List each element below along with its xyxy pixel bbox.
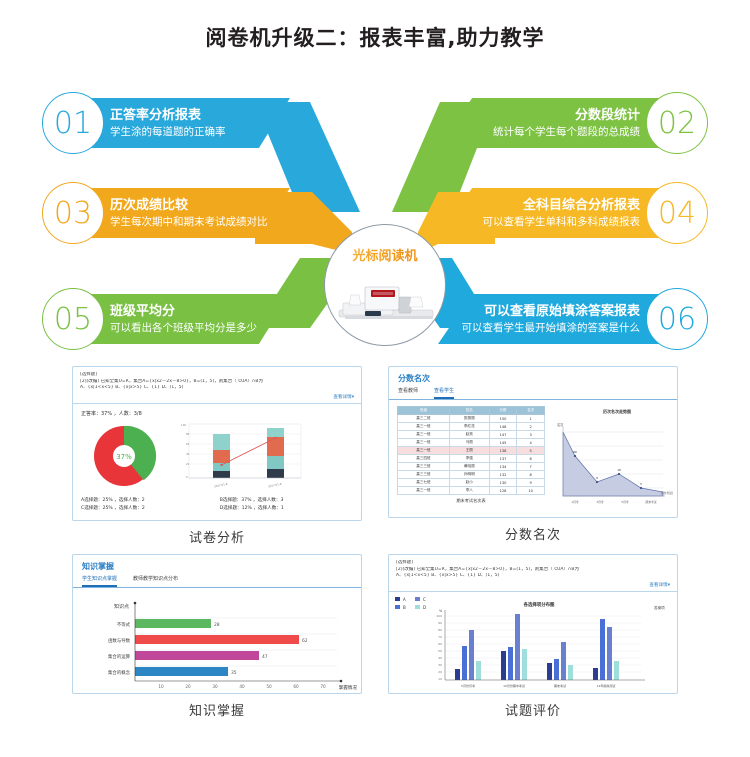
rank-table-row[interactable]: 高三七班赵小1309 xyxy=(398,479,545,487)
rank-cell-姓名: 孙明明 xyxy=(449,471,489,479)
svg-text:10: 10 xyxy=(438,677,442,681)
eval-unit-label: % xyxy=(439,609,443,613)
knowledge-ylabel: 知识点 xyxy=(114,603,129,610)
rank-table-caption: 期末考试名次表 xyxy=(397,498,545,504)
item-eval-bar-chart: A C B D 各选择项分布图 答案项 % xyxy=(389,592,677,690)
info-item-02-title: 分数段统计 xyxy=(438,108,640,124)
rank-cell-班级: 高三一班 xyxy=(398,439,450,447)
trend-xtick-1: 3月考 xyxy=(596,500,604,504)
stacked-bar-chart: 100 8060 4020 0 xyxy=(175,420,307,492)
card-knowledge: 知识掌握 学生知识点掌握 教师教学知识点分布 知识点 xyxy=(72,554,362,719)
rank-cell-名次: 6 xyxy=(517,455,545,463)
rank-table-row[interactable]: 高三二班张丽丽1501 xyxy=(398,415,545,423)
trend-xtick-2: 5月考 xyxy=(621,500,629,504)
correct-rate-text: 正答率：37% ，人数：3/8 xyxy=(81,410,353,417)
card-item-eval: [选择题] [2](改编) 已知全集U=R，集合A={x|x2－2x－8>0}，… xyxy=(388,554,678,719)
option-stat-d: D选择题：12% ，选择人数：1 xyxy=(220,505,353,513)
screenshot-paper-analysis[interactable]: [选择题] [2](改编) 已知全集U=R，集合A={x|x2－2x－8>0}，… xyxy=(72,366,362,521)
rank-table-row[interactable]: 高三三班孙明明1328 xyxy=(398,471,545,479)
rank-col-name: 姓名 xyxy=(449,407,489,415)
svg-text:0: 0 xyxy=(186,475,188,479)
rank-cell-姓名: 赵小 xyxy=(449,479,489,487)
question-line-2: A、{x|1<x<5} B、{x|x>5} C、{1} D、(1，5) xyxy=(80,385,354,392)
svg-text:20: 20 xyxy=(438,670,442,674)
rank-cell-班级: 高三四班 xyxy=(398,455,450,463)
xtick-40: 40 xyxy=(239,684,245,689)
svg-text:60: 60 xyxy=(438,642,442,646)
cat-set-operation: 集合的运算 xyxy=(108,653,131,660)
legend-d: D xyxy=(423,605,426,610)
view-detail-link[interactable]: 查看详情▾ xyxy=(80,394,354,400)
rank-cell-姓名: 李强 xyxy=(449,455,489,463)
poster-root: 阅卷机升级二：报表丰富,助力教学 光标阅读机 xyxy=(0,0,750,757)
rank-cell-姓名: 李八 xyxy=(449,487,489,495)
info-item-03-sub: 学生每次期中和期末考试成绩对比 xyxy=(110,215,290,229)
svg-text:100: 100 xyxy=(181,423,186,427)
svg-text:18: 18 xyxy=(617,468,621,472)
trend-chart-title: 历次名次走势图 xyxy=(603,408,631,414)
badge-06: 06 xyxy=(646,288,708,350)
eval-question-header: [选择题] [2](改编) 已知全集U=R，集合A={x|x2－2x－8>0}，… xyxy=(389,555,677,592)
svg-text:80: 80 xyxy=(186,432,190,436)
option-stat-a: A选择题：25% ，选择人数：2 xyxy=(81,497,214,505)
rank-cell-名次: 7 xyxy=(517,463,545,471)
rank-col-rank: 名次 xyxy=(517,407,545,415)
tab-view-student[interactable]: 查看学生 xyxy=(434,387,454,399)
cat-set-concept: 集合的概念 xyxy=(108,669,131,676)
rank-cell-名次: 4 xyxy=(517,439,545,447)
panel-title-knowledge: 知识掌握 xyxy=(73,555,361,575)
rank-cell-名次: 9 xyxy=(517,479,545,487)
question-line-1: [2](改编) 已知全集U=R，集合A={x|x2－2x－8>0}，B=(1，5… xyxy=(80,379,354,386)
rank-table: 班级 姓名 分数 名次 高三二班张丽丽1501高三一班李红花1482高三一班赵亮… xyxy=(397,406,545,495)
option-stats-row-1: A选择题：25% ，选择人数：2 C选择题：25% ，选择人数：2 B选择题：3… xyxy=(81,497,353,513)
eval-chart-title: 各选择项分布图 xyxy=(523,601,555,608)
legend-a: A xyxy=(403,597,406,602)
bar-xtick-1: 2017-01-8 xyxy=(214,481,228,488)
rank-cell-姓名: 赵亮 xyxy=(449,431,489,439)
rank-cell-姓名: 李红花 xyxy=(449,423,489,431)
rank-cell-班级: 高三二班 xyxy=(398,415,450,423)
trend-xlabel: 历次考试次数 xyxy=(661,491,673,495)
rank-cell-分数: 132 xyxy=(489,471,517,479)
screenshot-score-rank[interactable]: 分数名次 查看教师 查看学生 班级 姓名 分数 名次 xyxy=(388,366,678,518)
info-item-02-sub: 统计每个学生每个题段的总成绩 xyxy=(438,125,640,139)
legend-c: C xyxy=(423,597,426,602)
rank-cell-班级: 高三一班 xyxy=(398,423,450,431)
rank-cell-名次: 5 xyxy=(517,447,545,455)
bar-function-derivative xyxy=(135,635,299,644)
bar-set-operation xyxy=(135,651,259,660)
rank-table-row[interactable]: 高三一班王丽1385 xyxy=(398,447,545,455)
rank-cell-姓名: 黄晓丽 xyxy=(449,463,489,471)
rank-table-body: 高三二班张丽丽1501高三一班李红花1482高三一班赵亮1473高三一班马丽14… xyxy=(398,415,545,495)
rank-cell-班级: 高三一班 xyxy=(398,447,450,455)
card-score-rank: 分数名次 查看教师 查看学生 班级 姓名 分数 名次 xyxy=(388,366,678,543)
svg-text:5: 5 xyxy=(640,482,642,486)
bar-set-concept xyxy=(135,667,228,676)
info-item-05-sub: 可以看出各个班级平均分是多少 xyxy=(110,321,290,335)
scanner-machine-icon xyxy=(335,277,437,327)
badge-04: 04 xyxy=(646,182,708,244)
option-stat-b: B选择题：37% ，选择人数：3 xyxy=(220,497,353,505)
card-paper-analysis: [选择题] [2](改编) 已知全集U=R，集合A={x|x2－2x－8>0}，… xyxy=(72,366,362,546)
svg-text:68: 68 xyxy=(573,450,577,454)
eval-question-tag: [选择题] xyxy=(396,560,670,567)
rank-cell-分数: 130 xyxy=(489,479,517,487)
rank-cell-班级: 高三一班 xyxy=(398,431,450,439)
caption-item-eval: 试题评价 xyxy=(388,700,678,719)
caption-score-rank: 分数名次 xyxy=(388,524,678,543)
knowledge-xlabel: 掌握情况 xyxy=(339,684,358,691)
rank-table-row[interactable]: 高三一班李红花1482 xyxy=(398,423,545,431)
svg-text:90: 90 xyxy=(438,621,442,625)
question-header: [选择题] [2](改编) 已知全集U=R，集合A={x|x2－2x－8>0}，… xyxy=(73,367,361,404)
bar-value-function-derivative: 62 xyxy=(302,638,308,644)
svg-text:40: 40 xyxy=(186,452,190,456)
rank-table-row[interactable]: 高三一班李八12810 xyxy=(398,487,545,495)
screenshot-item-eval[interactable]: [选择题] [2](改编) 已知全集U=R，集合A={x|x2－2x－8>0}，… xyxy=(388,554,678,694)
rank-cell-名次: 10 xyxy=(517,487,545,495)
donut-center-label: 37% xyxy=(116,453,132,461)
rank-cell-分数: 148 xyxy=(489,423,517,431)
bar-inequality xyxy=(135,619,211,628)
rank-cell-班级: 高三三班 xyxy=(398,463,450,471)
badge-05: 05 xyxy=(42,288,104,350)
badge-01: 01 xyxy=(42,92,104,154)
rank-cell-班级: 高三一班 xyxy=(398,487,450,495)
svg-text:60: 60 xyxy=(186,442,190,446)
knowledge-tabs: 学生知识点掌握 教师教学知识点分布 xyxy=(73,575,361,588)
rank-col-class: 班级 xyxy=(398,407,450,415)
svg-text:40: 40 xyxy=(438,656,442,660)
xtick-20: 20 xyxy=(185,684,191,689)
bar-value-set-concept: 35 xyxy=(231,670,237,676)
cat-function-derivative: 函数与导数 xyxy=(108,637,131,644)
eval-xtick-1: 10月份期中考试 xyxy=(503,683,525,688)
info-row-1: 01 正答率分析报表 学生涂的每道题的正确率 02 分数段统计 统计每个学生每个… xyxy=(0,90,750,162)
eval-view-detail-link[interactable]: 查看详情▾ xyxy=(396,582,670,588)
rank-table-row[interactable]: 高三四班李强1376 xyxy=(398,455,545,463)
caption-paper-analysis: 试卷分析 xyxy=(72,527,362,546)
rank-cell-名次: 3 xyxy=(517,431,545,439)
bar-xtick-2: 2017-01-8 xyxy=(268,481,282,488)
rank-cell-班级: 高三三班 xyxy=(398,471,450,479)
donut-chart: 37% xyxy=(81,420,167,492)
info-item-06-title: 可以查看原始填涂答案报表 xyxy=(438,304,640,320)
info-item-05-title: 班级平均分 xyxy=(110,304,290,320)
screenshot-knowledge[interactable]: 知识掌握 学生知识点掌握 教师教学知识点分布 知识点 xyxy=(72,554,362,694)
rank-trend-chart: 历次名次走势图 名次 68 xyxy=(545,404,673,512)
rank-col-score: 分数 xyxy=(489,407,517,415)
rank-cell-分数: 128 xyxy=(489,487,517,495)
rank-table-row[interactable]: 高三一班赵亮1473 xyxy=(398,431,545,439)
caption-knowledge: 知识掌握 xyxy=(72,700,362,719)
panel-title-score-rank: 分数名次 xyxy=(389,367,677,387)
xtick-30: 30 xyxy=(212,684,218,689)
tab-student-knowledge[interactable]: 学生知识点掌握 xyxy=(82,575,117,587)
rank-table-header: 班级 姓名 分数 名次 xyxy=(398,407,545,415)
xtick-60: 60 xyxy=(293,684,299,689)
question-tag: [选择题] xyxy=(80,372,354,379)
trend-xtick-3: 期末考试 xyxy=(645,500,656,504)
info-item-06-sub: 可以查看学生最开始填涂的答案是什么 xyxy=(438,321,640,335)
svg-text:70: 70 xyxy=(438,635,442,639)
svg-text:80: 80 xyxy=(438,628,442,632)
page-title: 阅卷机升级二：报表丰富,助力教学 xyxy=(0,22,750,52)
tab-teacher-knowledge[interactable]: 教师教学知识点分布 xyxy=(133,575,178,587)
svg-text:20: 20 xyxy=(186,462,190,466)
rank-cell-姓名: 张丽丽 xyxy=(449,415,489,423)
center-node: 光标阅读机 xyxy=(324,224,446,346)
rank-cell-分数: 147 xyxy=(489,431,517,439)
rank-cell-分数: 134 xyxy=(489,463,517,471)
analysis-body: 正答率：37% ，人数：3/8 37% xyxy=(73,404,361,520)
screenshots-section: [选择题] [2](改编) 已知全集U=R，集合A={x|x2－2x－8>0}，… xyxy=(0,366,750,746)
badge-02: 02 xyxy=(646,92,708,154)
knowledge-bar-chart: 知识点 28 62 47 35 xyxy=(73,588,361,692)
rank-cell-班级: 高三七班 xyxy=(398,479,450,487)
rank-cell-分数: 145 xyxy=(489,439,517,447)
eval-side-label: 答案项 xyxy=(654,605,665,610)
rank-cell-姓名: 马丽 xyxy=(449,439,489,447)
center-label: 光标阅读机 xyxy=(325,245,445,264)
rank-table-row[interactable]: 高三三班黄晓丽1347 xyxy=(398,463,545,471)
eval-xtick-3: 12年模拟测试 xyxy=(597,683,616,688)
bar-value-set-operation: 47 xyxy=(262,654,268,660)
option-stat-c: C选择题：25% ，选择人数：2 xyxy=(81,505,214,513)
rank-cell-姓名: 王丽 xyxy=(449,447,489,455)
score-rank-tabs: 查看教师 查看学生 xyxy=(389,387,677,400)
trend-xtick-0: 1月考 xyxy=(571,500,579,504)
xtick-70: 70 xyxy=(320,684,326,689)
rank-cell-分数: 150 xyxy=(489,415,517,423)
rank-cell-分数: 137 xyxy=(489,455,517,463)
eval-xtick-0: 5月份月考 xyxy=(461,683,475,688)
cat-inequality: 不等式 xyxy=(117,621,131,628)
info-item-04-sub: 可以查看学生单科和多科成绩报表 xyxy=(438,215,640,229)
eval-question-line-1: [2](改编) 已知全集U=R，集合A={x|x2－2x－8>0}，B=(1，5… xyxy=(396,567,670,574)
info-item-01-title: 正答率分析报表 xyxy=(110,108,290,124)
bar-value-inequality: 28 xyxy=(214,622,220,628)
svg-text:8: 8 xyxy=(596,476,598,480)
rank-cell-名次: 2 xyxy=(517,423,545,431)
info-item-01-sub: 学生涂的每道题的正确率 xyxy=(110,125,290,139)
svg-text:100: 100 xyxy=(436,614,442,618)
eval-xtick-2: 期末考试 xyxy=(554,683,566,688)
eval-question-line-2: A、{x|1<x<5} B、{x|x>5} C、{1} D、(1，5) xyxy=(396,573,670,580)
rank-cell-分数: 138 xyxy=(489,447,517,455)
tab-view-teacher[interactable]: 查看教师 xyxy=(398,387,418,399)
rank-table-row[interactable]: 高三一班马丽1454 xyxy=(398,439,545,447)
svg-text:50: 50 xyxy=(438,649,442,653)
rank-cell-名次: 8 xyxy=(517,471,545,479)
xtick-10: 10 xyxy=(158,684,164,689)
info-item-04-title: 全科目综合分析报表 xyxy=(438,198,640,214)
badge-03: 03 xyxy=(42,182,104,244)
legend-b: B xyxy=(403,605,406,610)
svg-text:30: 30 xyxy=(438,663,442,667)
rank-cell-名次: 1 xyxy=(517,415,545,423)
info-item-03-title: 历次成绩比较 xyxy=(110,198,290,214)
infographic-section: 光标阅读机 01 正答率分析报表 学生涂的每道题的正确率 02 xyxy=(0,72,750,362)
xtick-50: 50 xyxy=(266,684,272,689)
